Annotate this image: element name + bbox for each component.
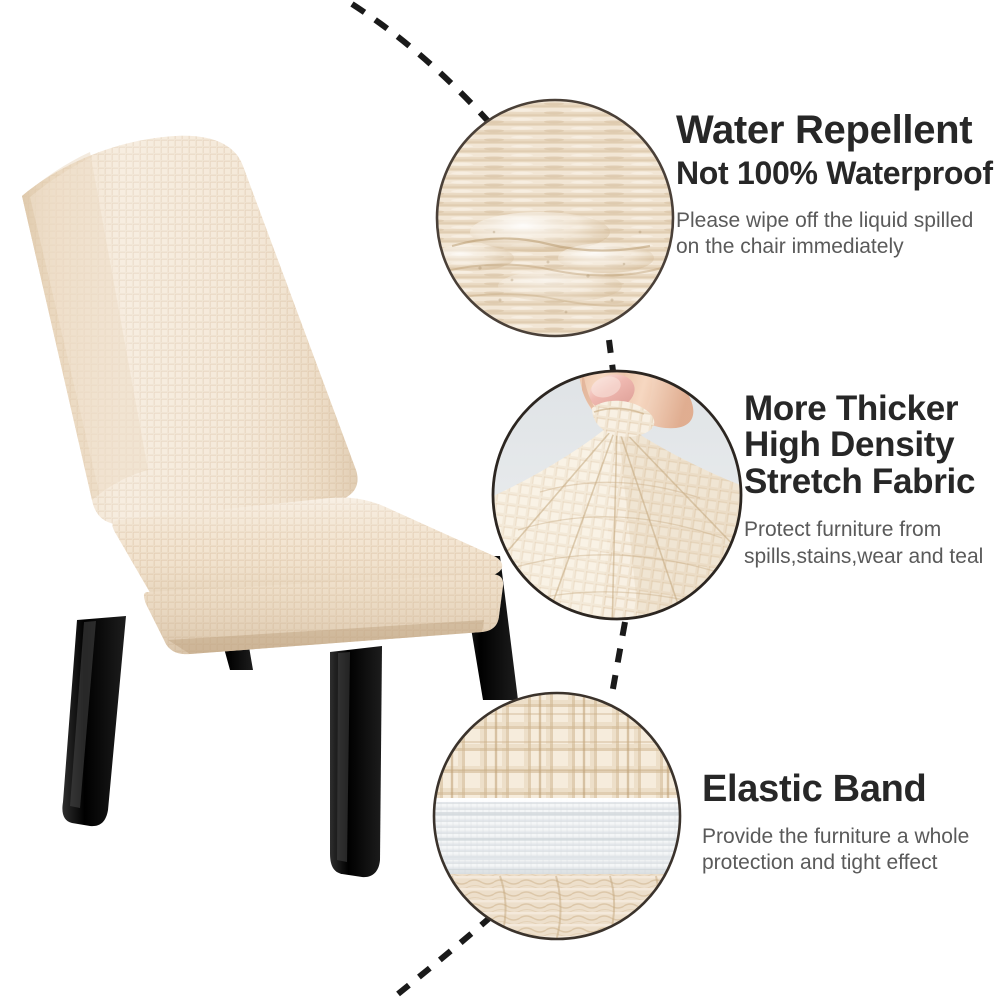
- callout-title-line: High Density: [744, 427, 983, 463]
- callout-title-line: More Thicker: [744, 391, 983, 427]
- callout-text-elastic-band: Elastic Band Provide the furniture a who…: [702, 770, 969, 876]
- chair-back-panel: [22, 136, 358, 525]
- callout-circle-stretch-fabric: [476, 348, 760, 632]
- leader-circle1-to-circle2: [609, 340, 613, 371]
- callout-title-stretch-fabric: More Thicker High Density Stretch Fabric: [744, 391, 983, 500]
- leader-circle2-to-circle3: [612, 622, 625, 694]
- chair-front-legs: [62, 616, 382, 877]
- callout-body-stretch-fabric: Protect furniture from spills,stains,wea…: [744, 517, 983, 570]
- callout-body-water-repellent: Please wipe off the liquid spilled on th…: [676, 208, 993, 261]
- callout-circle-water-repellent: [426, 93, 686, 349]
- callout-subtitle-water-repellent: Not 100% Waterproof: [676, 156, 993, 191]
- callout-title-elastic-band: Elastic Band: [702, 770, 969, 810]
- callout-body-line: on the chair immediately: [676, 234, 993, 260]
- callout-body-line: protection and tight effect: [702, 850, 969, 876]
- callout-body-line: spills,stains,wear and teal: [744, 544, 983, 570]
- product-infographic: Water Repellent Not 100% Waterproof Plea…: [0, 0, 1000, 1000]
- callout-circle-elastic-band: [430, 688, 690, 950]
- callout-text-water-repellent: Water Repellent Not 100% Waterproof Plea…: [676, 110, 993, 261]
- leader-top-left: [352, 4, 505, 140]
- callout-body-line: Protect furniture from: [744, 517, 983, 543]
- callout-body-elastic-band: Provide the furniture a whole protection…: [702, 824, 969, 877]
- callout-title-water-repellent: Water Repellent: [676, 110, 993, 152]
- callout-body-line: Please wipe off the liquid spilled: [676, 208, 993, 234]
- callout-body-line: Provide the furniture a whole: [702, 824, 969, 850]
- callout-title-line: Stretch Fabric: [744, 464, 983, 500]
- callout-text-stretch-fabric: More Thicker High Density Stretch Fabric…: [744, 391, 983, 570]
